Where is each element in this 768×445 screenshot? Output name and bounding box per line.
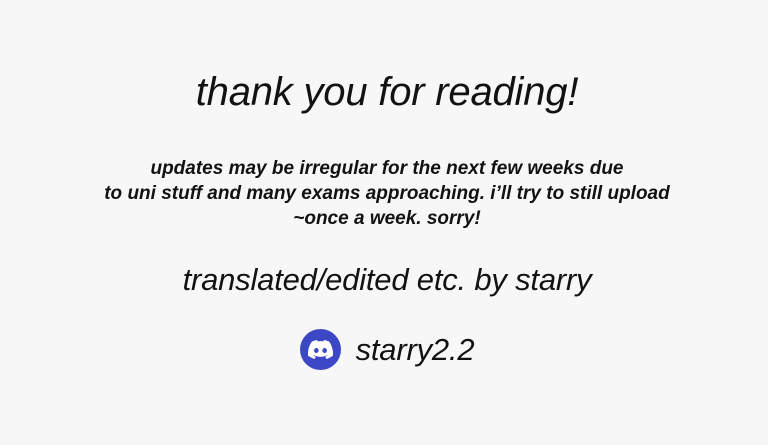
- update-note-line-1: updates may be irregular for the next fe…: [104, 156, 670, 181]
- update-note: updates may be irregular for the next fe…: [104, 156, 670, 231]
- credits-line: translated/edited etc. by starry: [183, 264, 592, 295]
- end-card: thank you for reading! updates may be ir…: [0, 0, 768, 445]
- social-handle-row: starry2.2: [300, 329, 475, 370]
- update-note-line-3: ~once a week. sorry!: [104, 206, 670, 231]
- discord-icon: [300, 329, 341, 370]
- discord-handle: starry2.2: [356, 334, 475, 365]
- update-note-line-2: to uni stuff and many exams approaching.…: [104, 181, 670, 206]
- page-title: thank you for reading!: [196, 72, 579, 112]
